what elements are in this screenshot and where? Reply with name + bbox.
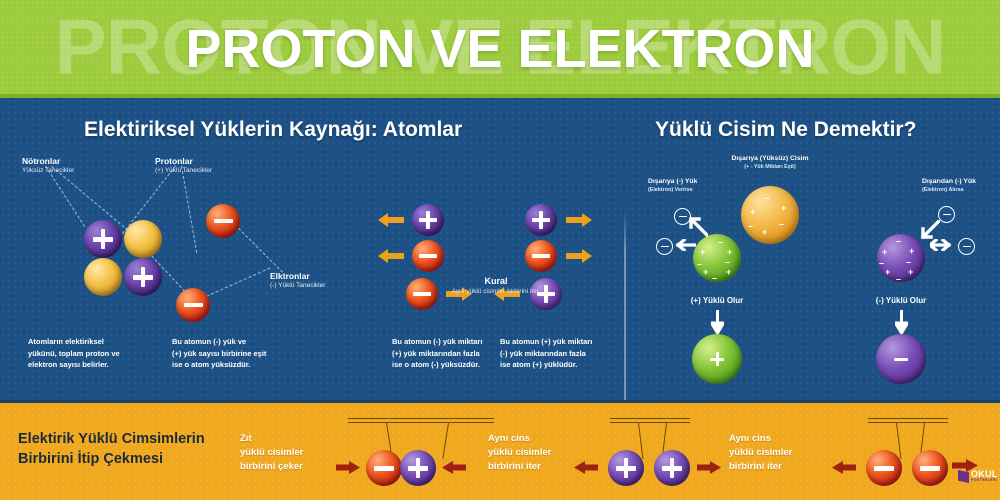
left-case-emit-arrow-2-icon <box>672 239 696 251</box>
nucleus-neutron-1 <box>124 220 162 258</box>
left-case-emit-arrow-1-icon <box>686 215 708 237</box>
left-case-charge-minus-2: – <box>697 260 702 269</box>
plus-icon <box>616 458 636 478</box>
bottom-demo-2-right-arrow-icon <box>697 460 721 475</box>
rule-pair-2-left-arrow-icon <box>378 248 404 264</box>
left-case-charge-plus-1: + <box>700 248 705 257</box>
neutral-body-label: Dışarıya (Yüksüz) Cisim (+ - Yük Miktarı… <box>731 155 808 171</box>
neutral-charge-plus-3: + <box>762 228 767 237</box>
left-case-label: Dışarıya (-) Yük (Elektron) Verirse <box>648 178 697 194</box>
right-case-charge-plus-2: + <box>909 247 914 256</box>
left-case-free-electron-2 <box>656 238 673 255</box>
right-case-result-label: (-) Yüklü Olur <box>876 296 927 305</box>
label-protons: Protonlar (+) Yüklü Tanecikler <box>155 156 212 175</box>
label-neutrons-title: Nötronlar <box>22 156 74 167</box>
electron-particle-2 <box>176 288 210 322</box>
left-case-charge-plus-4: + <box>726 268 731 277</box>
logo-text: OKUL POSTERLERI <box>971 470 998 483</box>
left-panel-title: Elektiriksel Yüklerin Kaynağı: Atomlar <box>84 118 462 142</box>
plus-icon <box>133 267 153 287</box>
main-blue-body: Elektiriksel Yüklerin Kaynağı: Atomlar Y… <box>0 98 1000 400</box>
right-case-charge-minus-3: – <box>906 258 911 267</box>
right-case-result-sphere <box>876 334 926 384</box>
bottom-demo-3-support-bar <box>868 418 948 423</box>
neutral-charge-minus-1: – <box>765 194 770 203</box>
label-electrons-title: Elktronlar <box>270 271 325 282</box>
left-caption-2: Bu atomun (-) yük ve (+) yük sayısı birb… <box>172 336 322 371</box>
label-protons-sub: (+) Yüklü Tanecikler <box>155 167 212 175</box>
plus-icon <box>532 211 550 229</box>
plus-icon <box>710 352 724 366</box>
poster-header: PROTON VE ELEKTRON PROTON VE ELEKTRON <box>0 0 1000 98</box>
minus-icon <box>894 352 908 366</box>
right-case-free-electron-2 <box>958 238 975 255</box>
minus-icon <box>184 296 203 315</box>
label-electrons: Elktronlar (-) Yüklü Tanecikler <box>270 271 325 290</box>
neutral-charge-plus-1: + <box>750 208 755 217</box>
right-case-label-line2: (Elektron) Alırsa <box>922 187 976 194</box>
rule-pair-1-right-sphere <box>525 204 557 236</box>
plus-icon <box>662 458 682 478</box>
bottom-demo-2-left-sphere <box>608 450 644 486</box>
electron-particle-1 <box>206 204 240 238</box>
rule-pair-2-right-sphere <box>525 240 557 272</box>
rule-title: Kural <box>406 276 586 286</box>
bottom-demo-1-left-sphere <box>366 450 402 486</box>
left-case-charge-minus-4: – <box>712 274 717 283</box>
left-case-result-label: (+) Yüklü Olur <box>691 296 744 305</box>
label-neutrons: Nötronlar Yüksüz Tanecikler <box>22 156 74 175</box>
right-panel-title: Yüklü Cisim Ne Demektir? <box>655 118 916 142</box>
label-electrons-sub: (-) Yüklü Tanecikler <box>270 282 325 290</box>
left-case-result-sphere <box>692 334 742 384</box>
minus-icon <box>874 458 894 478</box>
header-bottom-rule <box>0 94 1000 98</box>
bottom-demo-1-support-bar <box>348 418 494 423</box>
label-protons-title: Protonlar <box>155 156 212 167</box>
bottom-demo-1-right-arrow-icon <box>442 460 466 475</box>
right-case-charge-plus-4: + <box>908 268 913 277</box>
left-case-label-line2: (Elektron) Verirse <box>648 187 697 194</box>
logo-text-secondary: POSTERLERI <box>971 479 998 483</box>
label-neutrons-sub: Yüksüz Tanecikler <box>22 167 74 175</box>
bottom-heading: Elektirik Yüklü Cimsimlerin Birbirini İt… <box>18 430 243 469</box>
left-case-charge-plus-2: + <box>727 248 732 257</box>
rule-pair-1-left-arrow-icon <box>378 212 404 228</box>
bottom-bar-top-rule <box>0 400 1000 403</box>
rule-pair-2-left-sphere <box>412 240 444 272</box>
neutral-charge-plus-2: + <box>781 204 786 213</box>
bottom-demo-2-right-sphere <box>654 450 690 486</box>
neutral-charge-minus-3: – <box>779 220 784 229</box>
right-case-charge-minus-2: – <box>879 259 884 268</box>
right-case-free-electron-1 <box>938 206 955 223</box>
right-case-charge-plus-1: + <box>882 248 887 257</box>
neutral-body-label-line2: (+ - Yük Miktarı Eşit) <box>731 164 808 171</box>
bottom-demo-1-left-arrow-icon <box>336 460 360 475</box>
poster-title: PROTON VE ELEKTRON <box>185 18 814 80</box>
neutral-charge-minus-2: – <box>748 222 753 231</box>
bottom-demo-3-caption: Aynı cins yüklü cisimler birbirini iter <box>729 432 839 473</box>
right-case-label-line1: Dışarıdan (-) Yük <box>922 178 976 187</box>
bottom-demo-2-support-bar <box>610 418 690 423</box>
minus-icon <box>374 458 394 478</box>
left-case-charge-plus-3: + <box>703 268 708 277</box>
plus-icon <box>408 458 428 478</box>
leader-line-proton-b <box>181 166 197 253</box>
panel-divider <box>624 210 626 400</box>
left-case-label-line1: Dışarıya (-) Yük <box>648 178 697 187</box>
rule-subtitle: Aynı yüklü cisimler birbirini iter. <box>386 288 606 295</box>
rule-pair-2-right-arrow-icon <box>566 248 592 264</box>
right-case-charge-minus-4: – <box>896 275 901 284</box>
left-case-down-arrow-icon <box>711 310 724 334</box>
minus-icon <box>920 458 940 478</box>
bottom-demo-1-caption: Zıt yüklü cisimler birbirini çeker <box>240 432 350 473</box>
rule-pair-1-left-sphere <box>412 204 444 236</box>
logo-flag-icon <box>958 470 969 483</box>
right-case-down-arrow-icon <box>895 310 908 334</box>
minus-icon <box>419 247 437 265</box>
plus-icon <box>93 229 113 249</box>
minus-icon <box>532 247 550 265</box>
right-case-absorb-arrow-1-icon <box>918 220 940 240</box>
bottom-demo-3-left-arrow-icon <box>832 460 856 475</box>
left-caption-1: Atomların elektiriksel yükünü, toplam pr… <box>28 336 168 371</box>
rule-pair-1-right-arrow-icon <box>566 212 592 228</box>
leader-line-electron-a <box>231 221 283 273</box>
bottom-demo-3-right-sphere <box>912 450 948 486</box>
nucleus-neutron-2 <box>84 258 122 296</box>
right-case-label: Dışarıdan (-) Yük (Elektron) Alırsa <box>922 178 976 194</box>
bottom-demo-2-left-arrow-icon <box>574 460 598 475</box>
okul-posterleri-logo[interactable]: OKUL POSTERLERI <box>958 470 998 483</box>
nucleus-proton-2 <box>124 258 162 296</box>
neutral-body-label-line1: Dışarıya (Yüksüz) Cisim <box>731 155 808 164</box>
plus-icon <box>419 211 437 229</box>
leader-line-neutron-a <box>45 166 85 227</box>
nucleus-proton-1 <box>84 220 122 258</box>
leader-line-electron-b <box>206 268 270 297</box>
infographic-poster: PROTON VE ELEKTRON PROTON VE ELEKTRON El… <box>0 0 1000 500</box>
rule-caption-2: Bu atomun (+) yük miktarı (-) yük miktar… <box>500 336 650 371</box>
right-case-absorb-arrow-2-icon <box>930 239 956 251</box>
left-case-charge-minus-3: – <box>725 258 730 267</box>
right-case-charge-minus-1: – <box>896 237 901 246</box>
minus-icon <box>214 212 233 231</box>
left-case-charge-minus-1: – <box>718 238 723 247</box>
bottom-demo-3-left-sphere <box>866 450 902 486</box>
right-case-charge-plus-3: + <box>885 268 890 277</box>
bottom-demo-1-right-sphere <box>400 450 436 486</box>
